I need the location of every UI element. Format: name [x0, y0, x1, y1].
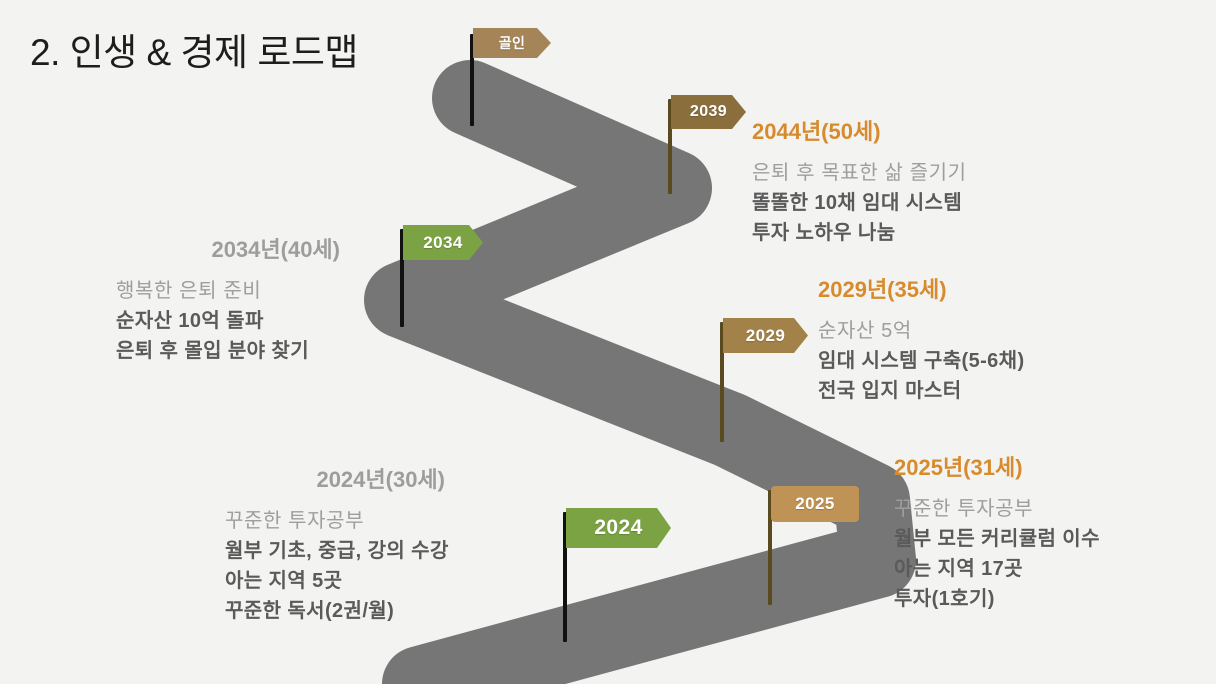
- info-line: 월부 모든 커리큘럼 이수: [894, 524, 1214, 554]
- info-lines-2044: 은퇴 후 목표한 삶 즐기기 똘똘한 10채 임대 시스템 투자 노하우 나눔: [752, 158, 1082, 248]
- info-heading-2024: 2024년(30세): [20, 462, 445, 494]
- flag-banner-2034: 2034: [403, 225, 483, 260]
- flag-banner-goal: 골인: [473, 28, 551, 58]
- info-heading-2034: 2034년(40세): [20, 232, 340, 264]
- flag-banner-2029: 2029: [723, 318, 808, 353]
- info-line: 투자(1호기): [894, 584, 1214, 614]
- info-line: 은퇴 후 몰입 분야 찾기: [116, 336, 340, 366]
- info-line: 투자 노하우 나눔: [752, 218, 1082, 248]
- info-lines-2024: 꾸준한 투자공부 월부 기초, 중급, 강의 수강 아는 지역 5곳 꾸준한 독…: [20, 506, 445, 626]
- info-block-2024: 2024년(30세) 꾸준한 투자공부 월부 기초, 중급, 강의 수강 아는 …: [20, 462, 445, 626]
- info-line: 순자산 10억 돌파: [116, 306, 340, 336]
- info-heading-2044: 2044년(50세): [752, 114, 1082, 146]
- info-line: 똘똘한 10채 임대 시스템: [752, 188, 1082, 218]
- flag-banner-2024: 2024: [566, 508, 671, 548]
- roadmap-slide: 2. 인생 & 경제 로드맵 골인 2039 2034 2029 2025 20…: [0, 0, 1216, 684]
- info-line: 행복한 은퇴 준비: [116, 276, 340, 306]
- info-lines-2025: 꾸준한 투자공부 월부 모든 커리큘럼 이수 아는 지역 17곳 투자(1호기): [894, 494, 1214, 614]
- info-line: 꾸준한 독서(2권/월): [225, 596, 445, 626]
- info-block-2025: 2025년(31세) 꾸준한 투자공부 월부 모든 커리큘럼 이수 아는 지역 …: [894, 450, 1214, 614]
- info-block-2044: 2044년(50세) 은퇴 후 목표한 삶 즐기기 똘똘한 10채 임대 시스템…: [752, 114, 1082, 248]
- info-line: 임대 시스템 구축(5-6채): [818, 346, 1158, 376]
- flag-banner-2039: 2039: [671, 95, 746, 129]
- info-line: 아는 지역 5곳: [225, 566, 445, 596]
- info-lines-2029: 순자산 5억 임대 시스템 구축(5-6채) 전국 입지 마스터: [818, 316, 1158, 406]
- flag-banner-2025: 2025: [771, 486, 859, 522]
- info-line: 은퇴 후 목표한 삶 즐기기: [752, 158, 1082, 188]
- info-heading-2025: 2025년(31세): [894, 450, 1214, 482]
- info-line: 전국 입지 마스터: [818, 376, 1158, 406]
- info-lines-2034: 행복한 은퇴 준비 순자산 10억 돌파 은퇴 후 몰입 분야 찾기: [20, 276, 340, 366]
- info-block-2029: 2029년(35세) 순자산 5억 임대 시스템 구축(5-6채) 전국 입지 …: [818, 272, 1158, 406]
- info-line: 꾸준한 투자공부: [225, 506, 445, 536]
- info-block-2034: 2034년(40세) 행복한 은퇴 준비 순자산 10억 돌파 은퇴 후 몰입 …: [20, 232, 340, 366]
- info-line: 월부 기초, 중급, 강의 수강: [225, 536, 445, 566]
- info-heading-2029: 2029년(35세): [818, 272, 1158, 304]
- info-line: 꾸준한 투자공부: [894, 494, 1214, 524]
- info-line: 아는 지역 17곳: [894, 554, 1214, 584]
- info-line: 순자산 5억: [818, 316, 1158, 346]
